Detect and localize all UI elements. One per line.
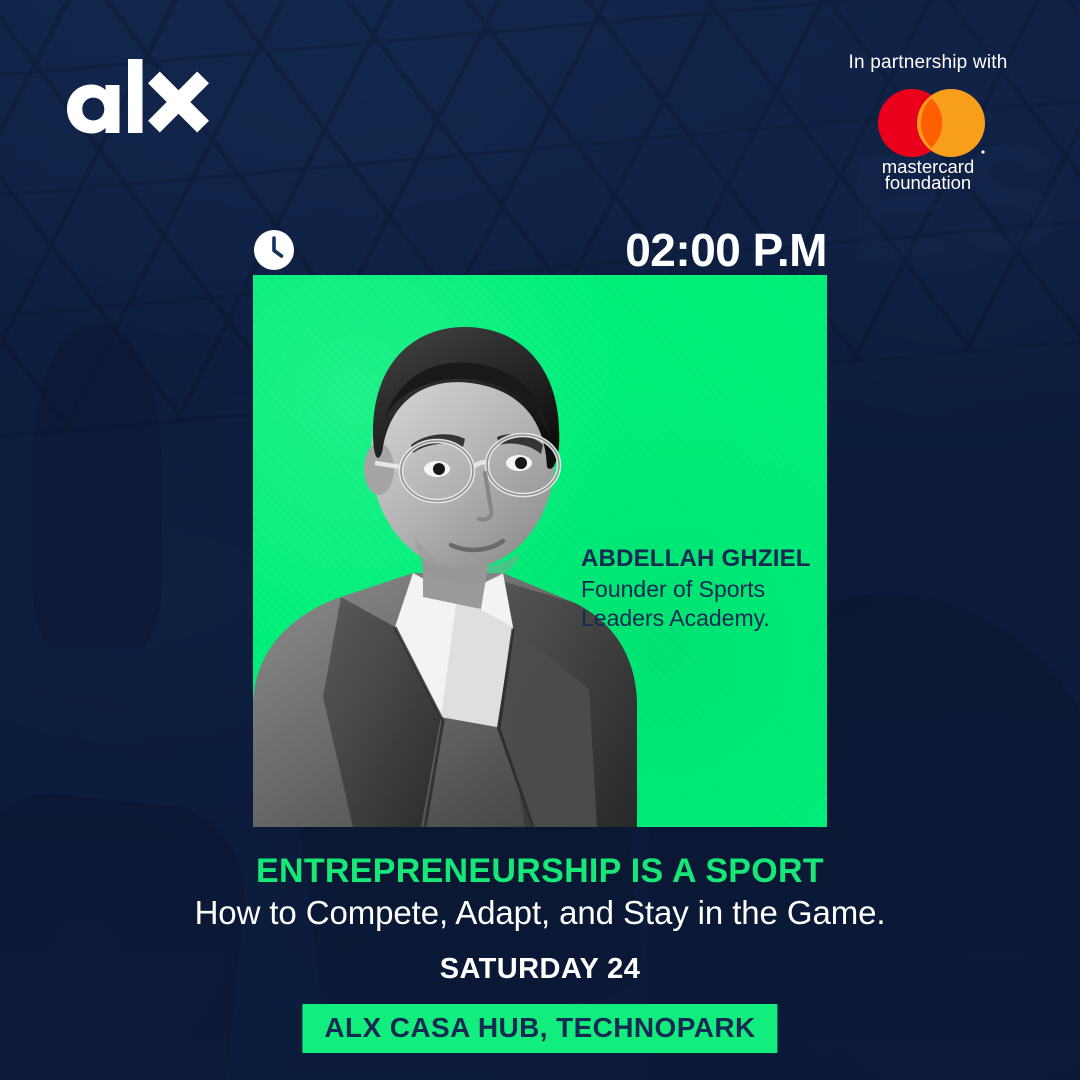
partnership-block: In partnership with mastercard foundatio…: [808, 52, 1048, 190]
speaker-info: ABDELLAH GHZIEL Founder of Sports Leader…: [581, 545, 817, 632]
svg-text:foundation: foundation: [885, 172, 971, 190]
speaker-title-line2: Leaders Academy.: [581, 604, 817, 633]
alx-logo: [64, 57, 210, 135]
speaker-title-line1: Founder of Sports: [581, 575, 817, 604]
event-subheadline: How to Compete, Adapt, and Stay in the G…: [0, 893, 1080, 933]
event-venue-bar: ALX CASA HUB, TECHNOPARK: [302, 1004, 777, 1053]
event-time-row: 02:00 P.M: [253, 222, 827, 278]
mastercard-foundation-logo: mastercard foundation: [863, 86, 993, 190]
event-date: SATURDAY 24: [0, 953, 1080, 986]
speaker-name: ABDELLAH GHZIEL: [581, 545, 817, 573]
event-venue: ALX CASA HUB, TECHNOPARK: [324, 1013, 755, 1042]
event-headline: ENTREPRENEURSHIP IS A SPORT: [0, 853, 1080, 890]
speaker-photo-panel: ABDELLAH GHZIEL Founder of Sports Leader…: [253, 275, 827, 827]
event-time: 02:00 P.M: [625, 227, 827, 273]
poster-content: In partnership with mastercard foundatio…: [0, 0, 1080, 1080]
clock-icon: [253, 229, 295, 271]
event-poster: ES In partnership with mastercar: [0, 0, 1080, 1080]
partnership-label: In partnership with: [808, 52, 1048, 74]
